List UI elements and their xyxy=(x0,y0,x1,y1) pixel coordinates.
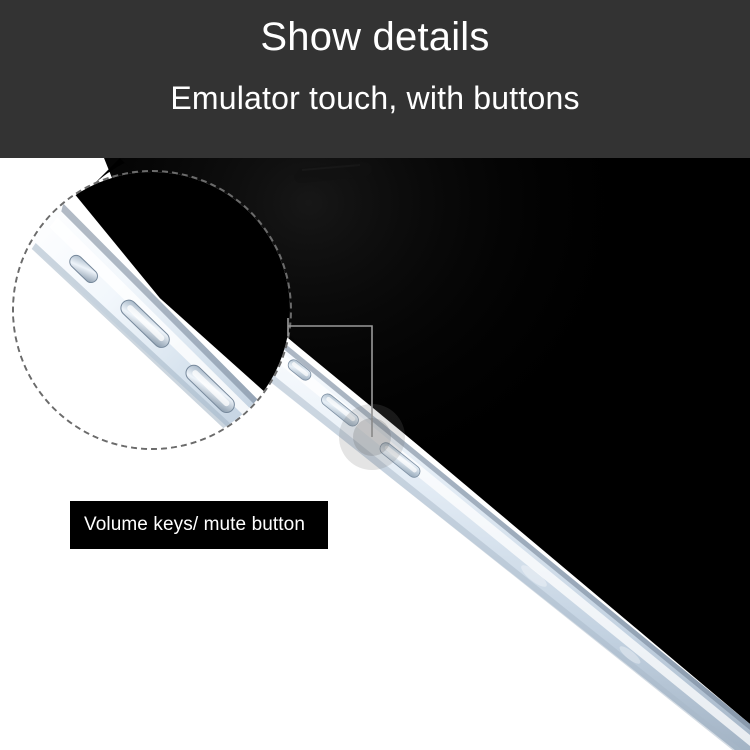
page-title: Show details xyxy=(260,14,489,60)
header-banner: Show details Emulator touch, with button… xyxy=(0,0,750,158)
phone-photo: Volume keys/ mute button xyxy=(0,158,750,750)
caption-label-text: Volume keys/ mute button xyxy=(70,514,305,536)
product-detail-image: Volume keys/ mute button Show details Em… xyxy=(0,0,750,750)
touch-point-core xyxy=(353,418,391,456)
touch-point-indicator[interactable] xyxy=(339,404,405,470)
caption-label-box: Volume keys/ mute button xyxy=(70,501,328,549)
magnified-detail-circle xyxy=(12,170,292,450)
magnified-phone-edge xyxy=(12,170,292,450)
page-subtitle: Emulator touch, with buttons xyxy=(170,80,579,117)
